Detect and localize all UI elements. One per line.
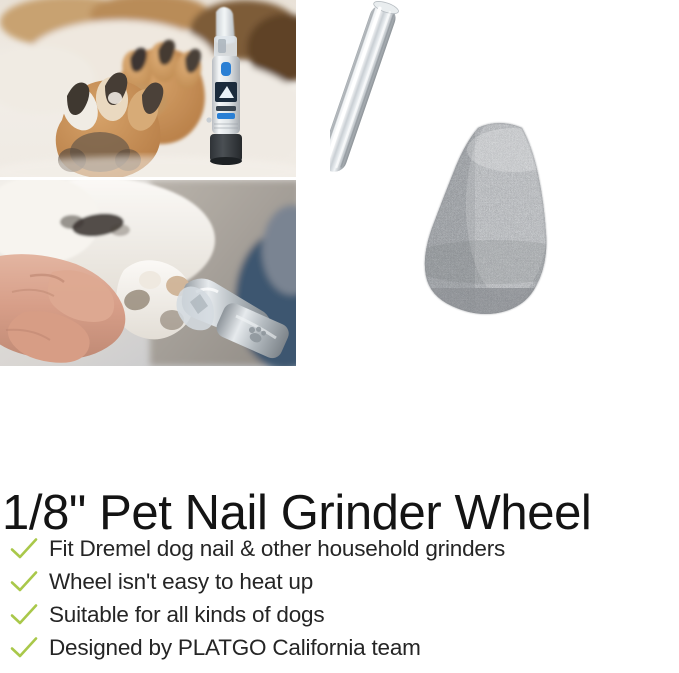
feature-text: Wheel isn't easy to heat up — [49, 569, 313, 595]
dog-paws-illustration — [0, 0, 296, 177]
grooming-illustration — [0, 180, 296, 366]
grinding-bit-illustration — [330, 0, 675, 350]
feature-item: Designed by PLATGO California team — [0, 631, 679, 664]
photo-collage — [0, 0, 296, 366]
check-icon — [9, 536, 39, 562]
feature-item: Fit Dremel dog nail & other household gr… — [0, 532, 679, 565]
feature-text: Designed by PLATGO California team — [49, 635, 421, 661]
feature-list: Fit Dremel dog nail & other household gr… — [0, 532, 679, 664]
feature-text: Suitable for all kinds of dogs — [49, 602, 324, 628]
check-icon — [9, 602, 39, 628]
feature-text: Fit Dremel dog nail & other household gr… — [49, 536, 505, 562]
feature-item: Wheel isn't easy to heat up — [0, 565, 679, 598]
product-image-diamond-grinding-bit — [330, 0, 675, 350]
photo-grooming-in-progress — [0, 180, 296, 366]
check-icon — [9, 635, 39, 661]
feature-item: Suitable for all kinds of dogs — [0, 598, 679, 631]
photo-dog-paws-with-grinder — [0, 0, 296, 177]
check-icon — [9, 569, 39, 595]
